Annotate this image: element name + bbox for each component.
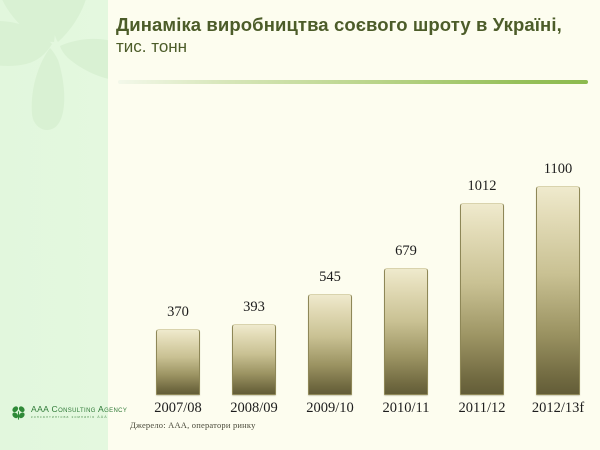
bar-value-label: 679 bbox=[368, 243, 444, 260]
source-note: Джерело: ААА, оператори ринку bbox=[130, 420, 256, 430]
slide-canvas: Динаміка виробництва соєвого шроту в Укр… bbox=[0, 0, 600, 450]
bar-value-label: 1012 bbox=[444, 178, 520, 195]
category-label: 2008/09 bbox=[216, 400, 292, 417]
category-label: 2007/08 bbox=[140, 400, 216, 417]
company-logo[interactable]: AAA Consulting Agency консалтингова комп… bbox=[10, 404, 127, 421]
bar-2010-11[interactable] bbox=[384, 268, 428, 395]
logo-company-name: AAA Consulting Agency bbox=[31, 405, 127, 414]
bar-value-label: 1100 bbox=[520, 161, 596, 178]
bar-value-label: 370 bbox=[140, 304, 216, 321]
category-label: 2009/10 bbox=[292, 400, 368, 417]
bar-slot: 1100 2012/13f bbox=[520, 92, 596, 407]
bar-2007-08[interactable] bbox=[156, 329, 200, 395]
bar-2009-10[interactable] bbox=[308, 294, 352, 395]
bar-2008-09[interactable] bbox=[232, 324, 276, 395]
page-title: Динаміка виробництва соєвого шроту в Укр… bbox=[116, 14, 586, 57]
bar-chart: 370 2007/08 393 2008/09 545 2009/10 679 … bbox=[108, 92, 600, 407]
clover-icon bbox=[10, 404, 27, 421]
category-label: 2010/11 bbox=[368, 400, 444, 417]
logo-tagline: консалтингова компанія ААА bbox=[31, 416, 127, 420]
bar-2012-13f[interactable] bbox=[536, 186, 580, 395]
title-subtitle-text: тис. тонн bbox=[116, 37, 187, 56]
logo-text: AAA Consulting Agency консалтингова комп… bbox=[31, 405, 127, 419]
bar-slot: 393 2008/09 bbox=[216, 92, 292, 407]
title-divider bbox=[118, 80, 588, 84]
bar-value-label: 393 bbox=[216, 299, 292, 316]
bar-slot: 679 2010/11 bbox=[368, 92, 444, 407]
bar-slot: 370 2007/08 bbox=[140, 92, 216, 407]
bar-slot: 1012 2011/12 bbox=[444, 92, 520, 407]
category-label: 2011/12 bbox=[444, 400, 520, 417]
bar-slot: 545 2009/10 bbox=[292, 92, 368, 407]
category-label: 2012/13f bbox=[520, 400, 596, 417]
bar-value-label: 545 bbox=[292, 269, 368, 286]
title-main-text: Динаміка виробництва соєвого шроту в Укр… bbox=[116, 14, 562, 35]
bar-2011-12[interactable] bbox=[460, 203, 504, 395]
